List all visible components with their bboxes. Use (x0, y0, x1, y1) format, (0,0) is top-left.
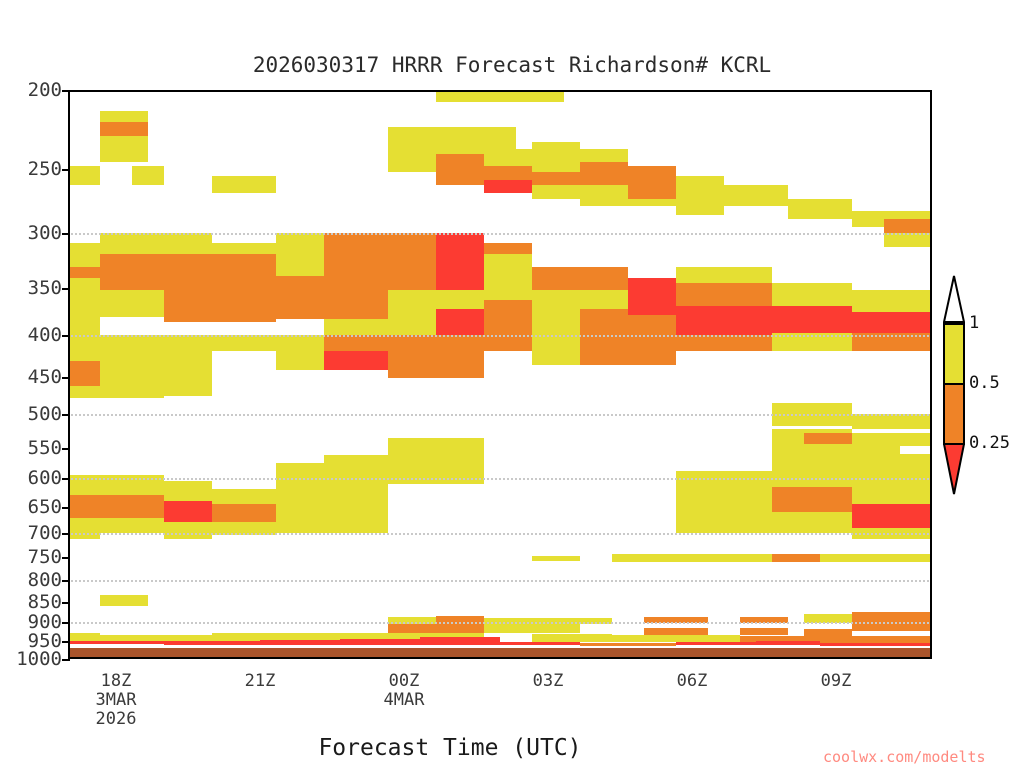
heatmap-cell (692, 554, 772, 562)
x-axis-title: Forecast Time (UTC) (0, 735, 900, 761)
heatmap-cell (532, 267, 628, 290)
heatmap-cell (100, 136, 148, 161)
gridline-horizontal (68, 622, 932, 624)
heatmap-cell (100, 290, 164, 317)
heatmap-cell (100, 518, 164, 532)
x-tick-date: 4MAR (384, 691, 425, 710)
heatmap-cell (276, 233, 324, 254)
x-axis-tick-label: 06Z (677, 672, 708, 691)
heatmap-cell (772, 512, 852, 533)
heatmap-cell (772, 554, 820, 562)
heatmap-cell (388, 233, 436, 254)
heatmap-cell (276, 483, 388, 501)
x-tick-time: 18Z (96, 672, 137, 691)
y-axis-tick-label: 300 (28, 222, 62, 244)
heatmap-cell (532, 185, 580, 198)
heatmap-cell (852, 504, 932, 528)
y-axis-tick-mark (62, 335, 70, 337)
heatmap-cell (340, 639, 420, 644)
heatmap-cell (580, 162, 628, 172)
heatmap-cell (852, 312, 932, 333)
y-axis-tick-mark (62, 169, 70, 171)
heatmap-cell (164, 481, 212, 501)
heatmap-cell (484, 149, 532, 167)
colorbar-band-yellow[interactable] (943, 323, 965, 383)
heatmap-cell (676, 487, 772, 512)
y-axis-tick-mark (62, 622, 70, 624)
colorbar-edge (943, 323, 965, 325)
heatmap-cell (164, 522, 212, 539)
heatmap-cell (276, 276, 324, 290)
heatmap-cell (212, 176, 276, 194)
heatmap-cell (324, 254, 388, 290)
heatmap-cell (484, 180, 532, 193)
heatmap-cell (724, 185, 788, 206)
chart-title: 2026030317 HRRR Forecast Richardson# KCR… (0, 53, 1024, 77)
heatmap-cell (676, 267, 772, 283)
heatmap-cell (676, 512, 772, 533)
y-axis-tick-label: 450 (28, 366, 62, 388)
x-tick-time: 09Z (821, 672, 852, 691)
heatmap-cell (676, 283, 772, 306)
heatmap-cell (756, 641, 820, 645)
heatmap-cell (852, 454, 932, 471)
heatmap-cell (100, 386, 164, 398)
heatmap-cell (532, 339, 580, 364)
y-axis-tick-label: 250 (28, 158, 62, 180)
gridline-horizontal (68, 478, 932, 480)
heatmap-cell (580, 335, 628, 365)
heatmap-cell (100, 254, 196, 290)
y-axis-tick-label: 650 (28, 496, 62, 518)
x-tick-time: 03Z (533, 672, 564, 691)
heatmap-cell (68, 386, 100, 398)
heatmap-cell (68, 641, 164, 644)
heatmap-cell (484, 254, 532, 278)
heatmap-cell (820, 554, 932, 562)
heatmap-cell (100, 111, 148, 122)
heatmap-cell (436, 258, 484, 289)
colorbar[interactable]: 10.50.25 (943, 323, 965, 443)
heatmap-cell (68, 243, 100, 267)
y-axis-tick-label: 1000 (16, 648, 62, 670)
y-axis-tick-label: 400 (28, 324, 62, 346)
heatmap-cell (100, 351, 164, 386)
y-axis-tick-label: 200 (28, 79, 62, 101)
heatmap-cell (884, 433, 932, 446)
heatmap-cell (676, 176, 724, 194)
x-tick-time: 06Z (677, 672, 708, 691)
gridline-horizontal (68, 657, 932, 659)
heatmap-cell (484, 243, 532, 254)
heatmap-cell (804, 629, 852, 637)
heatmap-cell (436, 290, 484, 310)
heatmap-cell (772, 487, 852, 512)
heatmap-cell (212, 335, 276, 351)
heatmap-cell (324, 233, 388, 254)
heatmap-cell (484, 166, 532, 180)
heatmap-cell (580, 149, 628, 162)
heatmap-cell (100, 233, 148, 254)
y-axis-tick-labels: 2002503003504004505005506006507007508008… (0, 90, 62, 659)
gridline-horizontal (68, 414, 932, 416)
heatmap-cell (324, 351, 388, 371)
heatmap-cell (740, 628, 788, 636)
heatmap-cell (100, 595, 148, 606)
heatmap-cell (388, 438, 484, 484)
colorbar-tick-label: 0.5 (969, 373, 1000, 393)
y-axis-tick-label: 800 (28, 569, 62, 591)
heatmap-cell (532, 172, 628, 186)
x-tick-year: 2026 (96, 710, 137, 729)
heatmap-cell (164, 290, 276, 322)
heatmap-cell (148, 233, 212, 254)
heatmap-cell (388, 290, 436, 315)
heatmap-cell (68, 633, 100, 641)
watermark-credit: coolwx.com/modelts (823, 748, 986, 766)
y-axis-tick-mark (62, 90, 70, 92)
colorbar-tick-label: 1 (969, 313, 979, 333)
y-axis-tick-mark (62, 641, 70, 643)
heatmap-cell (164, 501, 212, 521)
heatmap-cell (772, 283, 852, 306)
heatmap-cell (68, 322, 100, 361)
heatmap-cell (644, 628, 708, 636)
heatmap-cell (100, 122, 148, 136)
heatmap-cell (276, 335, 324, 351)
heatmap-cell (388, 624, 436, 634)
heatmap-cell (388, 315, 436, 335)
heatmap-cell (436, 309, 484, 335)
heatmap-cell (324, 335, 388, 351)
x-tick-time: 00Z (384, 672, 425, 691)
heatmap-cell (484, 300, 532, 322)
x-tick-time: 21Z (245, 672, 276, 691)
heatmap-cell (68, 518, 100, 538)
heatmap-cell (388, 254, 436, 290)
heatmap-cell (628, 185, 676, 198)
heatmap-cell (500, 642, 580, 646)
heatmap-cell (852, 471, 932, 504)
heatmap-cell (532, 290, 580, 315)
y-axis-tick-label: 600 (28, 467, 62, 489)
heatmap-cell (68, 361, 100, 386)
x-axis-tick-label: 18Z3MAR2026 (96, 672, 137, 729)
heatmap-cell (676, 335, 772, 351)
heatmap-cell (852, 290, 932, 312)
y-axis-tick-mark (62, 557, 70, 559)
heatmap-cell (772, 444, 852, 469)
heatmap-cell (276, 518, 324, 532)
heatmap-cell (852, 414, 932, 429)
heatmap-cell (276, 290, 388, 319)
heatmap-cell (628, 339, 676, 364)
colorbar-over-arrow-icon (943, 275, 965, 323)
heatmap-cell (580, 643, 676, 646)
y-axis-tick-mark (62, 659, 70, 661)
y-axis-tick-label: 700 (28, 522, 62, 544)
gridline-horizontal (68, 233, 932, 235)
heatmap-cell (436, 90, 564, 102)
heatmap-cell (196, 254, 276, 290)
heatmap-cell (68, 300, 100, 322)
heatmap-cell (324, 518, 388, 532)
x-axis-tick-label: 09Z (821, 672, 852, 691)
y-axis-tick-label: 500 (28, 403, 62, 425)
y-axis-tick-mark (62, 414, 70, 416)
heatmap-cell (788, 199, 852, 219)
heatmap-cell (484, 278, 532, 300)
gridline-horizontal (68, 533, 932, 535)
heatmap-cell (324, 319, 388, 335)
heatmap-cell (532, 634, 612, 642)
y-axis-tick-label: 750 (28, 546, 62, 568)
heatmap-cell (260, 640, 340, 644)
y-axis-tick-mark (62, 288, 70, 290)
heatmap-plot-area (68, 90, 932, 659)
heatmap-cell (388, 335, 436, 351)
heatmap-cell (68, 278, 100, 300)
y-axis-tick-mark (62, 233, 70, 235)
y-axis-tick-mark (62, 448, 70, 450)
heatmap-cell (484, 339, 532, 350)
heatmap-cell (164, 351, 212, 386)
heatmap-cell (436, 127, 516, 143)
heatmap-cell (68, 166, 100, 185)
x-axis-tick-label: 21Z (245, 672, 276, 691)
heatmap-cell (676, 193, 724, 215)
y-axis-tick-label: 550 (28, 437, 62, 459)
heatmap-cell (580, 309, 628, 335)
heatmap-cell (68, 495, 100, 519)
heatmap-cell (100, 335, 212, 351)
gridline-horizontal (68, 335, 932, 337)
heatmap-cell (436, 624, 484, 633)
heatmap-cell (100, 495, 164, 519)
heatmap-cell (388, 127, 436, 143)
x-axis-tick-label: 00Z4MAR (384, 672, 425, 710)
heatmap-cell (276, 351, 324, 371)
heatmap-cell (212, 489, 276, 504)
heatmap-cell (884, 233, 932, 247)
heatmap-cell (676, 642, 756, 646)
y-axis-tick-mark (62, 602, 70, 604)
y-axis-tick-mark (62, 507, 70, 509)
heatmap-cell (532, 556, 580, 561)
gridline-horizontal (68, 580, 932, 582)
y-axis-tick-mark (62, 478, 70, 480)
heatmap-cell (436, 351, 484, 369)
heatmap-cell (628, 166, 676, 185)
y-axis-tick-label: 350 (28, 277, 62, 299)
heatmap-cell (276, 463, 324, 484)
colorbar-under-arrow-icon (943, 443, 965, 495)
heatmap-cell (532, 142, 580, 171)
y-axis-tick-mark (62, 377, 70, 379)
heatmap-cell (388, 369, 484, 379)
heatmap-cell (388, 154, 436, 171)
colorbar-band-orange[interactable] (943, 383, 965, 443)
heatmap-cell (612, 554, 692, 562)
heatmap-cell (276, 254, 324, 276)
heatmap-cell (628, 278, 676, 315)
heatmap-cell (436, 233, 484, 258)
heatmap-cell (820, 643, 932, 646)
heatmap-cell (884, 219, 932, 233)
heatmap-cell (676, 306, 852, 335)
heatmap-cell (436, 335, 484, 351)
heatmap-cell (484, 624, 580, 633)
x-axis-tick-label: 03Z (533, 672, 564, 691)
y-axis-tick-mark (62, 533, 70, 535)
heatmap-cell (420, 637, 500, 644)
y-axis-tick-label: 850 (28, 591, 62, 613)
colorbar-tick-label: 0.25 (969, 433, 1010, 453)
heatmap-cell (164, 641, 260, 645)
x-tick-date: 3MAR (96, 691, 137, 710)
heatmap-cell (164, 386, 212, 396)
heatmap-cell (580, 290, 628, 310)
heatmap-cell (276, 501, 388, 518)
heatmap-cell (612, 635, 676, 641)
heatmap-cell (436, 154, 484, 185)
heatmap-cell (132, 166, 164, 185)
heatmap-cell (388, 351, 436, 369)
y-axis-tick-mark (62, 580, 70, 582)
colorbar-edge (943, 383, 965, 385)
heatmap-cell (212, 504, 276, 522)
